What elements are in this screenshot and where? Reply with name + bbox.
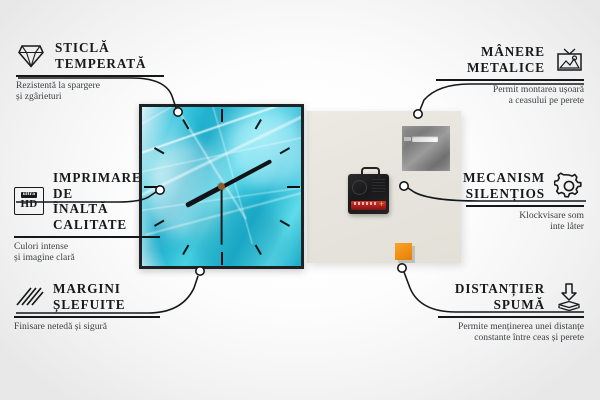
- callout-description: Permite menținerea unei distanțe constan…: [438, 321, 584, 344]
- callout-description: Klockvisare som inte låter: [466, 210, 584, 233]
- callout-margini-slefuite: MARGINI ȘLEFUITE Finisare netedă și sigu…: [14, 281, 160, 332]
- callout-rule: [436, 79, 584, 81]
- polished-edges-icon: [14, 284, 44, 310]
- callout-title: IMPRIMARE DE ÎNALTĂ CALITATE: [53, 170, 160, 232]
- callout-sticla-temperata: STICLĂ TEMPERATĂ Rezistentă la spargere …: [16, 40, 164, 103]
- callout-rule: [14, 236, 160, 238]
- callout-description: Finisare netedă și sigură: [14, 321, 160, 333]
- callout-manere-metalice: MÂNERE METALICE Permit montarea ușoară a…: [436, 44, 584, 107]
- callout-head: MECANISM SILENȚIOS: [466, 170, 584, 201]
- clock-back-panel: [307, 111, 461, 263]
- callout-description: Culori intense și imagine clară: [14, 241, 160, 264]
- foam-spacer: [395, 243, 412, 260]
- mechanism-hanging-loop: [361, 167, 380, 178]
- battery-label: [354, 202, 376, 205]
- second-hand: [221, 187, 223, 245]
- callout-head: MARGINI ȘLEFUITE: [14, 281, 160, 312]
- hands-center-cap: [218, 183, 225, 190]
- quartz-mechanism: [348, 174, 389, 214]
- callout-rule: [14, 316, 160, 318]
- callout-title: MÂNERE METALICE: [467, 44, 545, 75]
- callout-title: DISTANȚIER SPUMĂ: [455, 281, 545, 312]
- callout-description: Rezistentă la spargere și zgârieturi: [16, 80, 164, 103]
- callout-head: ultra HD IMPRIMARE DE ÎNALTĂ CALITATE: [14, 170, 160, 232]
- ultra-hd-icon-main: HD: [20, 199, 37, 210]
- mechanism-dial: [352, 180, 367, 195]
- diamond-icon: [16, 43, 46, 69]
- callout-title: STICLĂ TEMPERATĂ: [55, 40, 146, 71]
- gear-icon: [554, 172, 584, 200]
- callout-mecanism-silentios: MECANISM SILENȚIOS Klockvisare som inte …: [466, 170, 584, 233]
- clock-product-photo: [139, 104, 461, 269]
- glass-clock-face: [139, 104, 304, 269]
- callout-title: MARGINI ȘLEFUITE: [53, 281, 125, 312]
- aa-battery: [351, 201, 386, 210]
- callout-head: DISTANȚIER SPUMĂ: [438, 281, 584, 312]
- hanger-slot: [412, 136, 438, 142]
- callout-rule: [438, 316, 584, 318]
- callout-distantier-spuma: DISTANȚIER SPUMĂ Permite menținerea unei…: [438, 281, 584, 344]
- callout-head: MÂNERE METALICE: [436, 44, 584, 75]
- callout-description: Permit montarea ușoară a ceasului pe per…: [436, 84, 584, 107]
- clock-tick: [221, 109, 223, 187]
- callout-title: MECANISM SILENȚIOS: [463, 170, 545, 201]
- clock-tick: [222, 186, 300, 188]
- metal-hanger-bracket: [402, 126, 450, 171]
- callout-head: STICLĂ TEMPERATĂ: [16, 40, 164, 71]
- callout-rule: [16, 75, 164, 77]
- ultra-hd-icon: ultra HD: [14, 187, 44, 215]
- callout-imprimare-inalta-calitate: ultra HD IMPRIMARE DE ÎNALTĂ CALITATE Cu…: [14, 170, 160, 264]
- infographic-canvas: STICLĂ TEMPERATĂ Rezistentă la spargere …: [0, 0, 600, 400]
- callout-rule: [466, 205, 584, 207]
- mechanism-vents: [372, 179, 385, 194]
- arrow-down-stack-icon: [554, 283, 584, 311]
- picture-hanger-icon: [554, 47, 584, 73]
